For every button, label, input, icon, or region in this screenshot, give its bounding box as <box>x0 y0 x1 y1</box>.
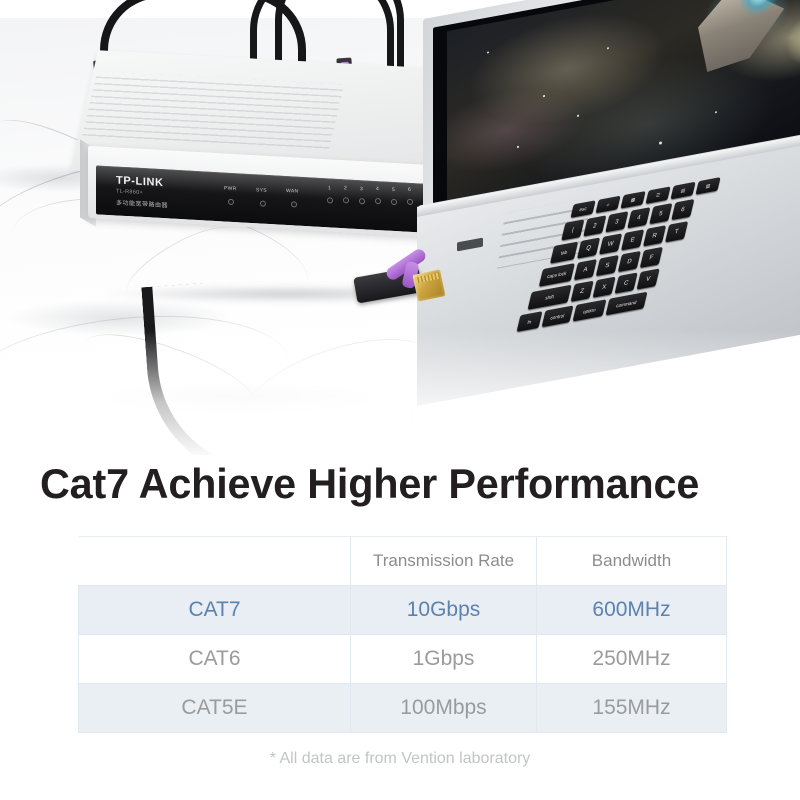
hero-photo: TP-LINK TL-R860+ 多功能宽带路由器 PWR SYS WAN 1 … <box>0 0 800 455</box>
cell-transmission-rate: 1Gbps <box>351 635 537 684</box>
key-2[interactable]: 2 <box>583 215 606 236</box>
key-6[interactable]: 6 <box>671 199 694 220</box>
page-title: Cat7 Achieve Higher Performance <box>40 461 759 507</box>
cell-bandwidth: 155MHz <box>537 684 727 733</box>
column-header-bandwidth: Bandwidth <box>537 537 727 586</box>
led-dot-pwr <box>228 199 234 205</box>
table-header-row: Transmission Rate Bandwidth <box>79 537 727 586</box>
table-row[interactable]: CAT7 10Gbps 600MHz <box>79 586 727 635</box>
router-model-label: TL-R860+ <box>116 188 143 196</box>
key-c[interactable]: C <box>615 272 638 293</box>
key-option[interactable]: option <box>573 299 607 321</box>
key-r[interactable]: R <box>643 225 666 246</box>
cell-cable-name: CAT5E <box>79 684 351 733</box>
led-label-pwr: PWR <box>224 185 237 192</box>
lens-flare <box>785 6 800 72</box>
port-number-2: 2 <box>344 185 347 191</box>
table-row[interactable]: CAT6 1Gbps 250MHz <box>79 635 727 684</box>
port-number-4: 4 <box>376 186 379 192</box>
key-v[interactable]: V <box>637 268 660 289</box>
port-led-1 <box>327 197 333 203</box>
cell-cable-name: CAT7 <box>79 586 351 635</box>
port-led-5 <box>391 199 397 205</box>
key-q[interactable]: Q <box>577 237 600 258</box>
key-d[interactable]: D <box>618 251 641 272</box>
led-label-wan: WAN <box>286 188 298 195</box>
macbook-laptop: esc ☼ ▦ ☰ ▤ ▨ | 2 3 4 5 6 tab Q <box>405 0 800 372</box>
data-source-footnote: * All data are from Vention laboratory <box>0 750 800 768</box>
cell-bandwidth: 250MHz <box>537 635 727 684</box>
key-t[interactable]: T <box>665 221 688 242</box>
key-f[interactable]: F <box>640 247 663 268</box>
table-row[interactable]: CAT5E 100Mbps 155MHz <box>79 684 727 733</box>
port-led-4 <box>375 198 381 204</box>
key-e[interactable]: E <box>621 229 644 250</box>
spec-comparison-table: Transmission Rate Bandwidth CAT7 10Gbps … <box>78 536 727 733</box>
key-x[interactable]: X <box>593 277 616 298</box>
tp-link-router: TP-LINK TL-R860+ 多功能宽带路由器 PWR SYS WAN 1 … <box>60 60 460 255</box>
cell-transmission-rate: 10Gbps <box>351 586 537 635</box>
key-3[interactable]: 3 <box>605 211 628 232</box>
rj45-gold-connector <box>412 269 445 301</box>
column-header-transmission-rate: Transmission Rate <box>351 537 537 586</box>
spaceship-graphic <box>678 0 791 78</box>
led-dot-sys <box>260 200 266 206</box>
key-command[interactable]: command <box>606 292 648 316</box>
key-1[interactable]: | <box>561 219 584 240</box>
led-label-sys: SYS <box>256 187 267 194</box>
column-header-category <box>79 537 351 586</box>
key-5[interactable]: 5 <box>649 203 672 224</box>
key-a[interactable]: A <box>574 259 597 280</box>
key-4[interactable]: 4 <box>627 207 650 228</box>
port-number-5: 5 <box>392 187 395 193</box>
port-number-1: 1 <box>328 185 331 191</box>
cell-transmission-rate: 100Mbps <box>351 684 537 733</box>
key-z[interactable]: Z <box>571 281 594 302</box>
key-s[interactable]: S <box>596 255 619 276</box>
promo-page: TP-LINK TL-R860+ 多功能宽带路由器 PWR SYS WAN 1 … <box>0 0 800 800</box>
key-w[interactable]: W <box>599 233 622 254</box>
photo-fade-overlay <box>0 330 800 455</box>
port-led-3 <box>359 198 365 204</box>
port-number-3: 3 <box>360 186 363 192</box>
router-subtitle-label: 多功能宽带路由器 <box>116 197 168 209</box>
key-tab[interactable]: tab <box>550 241 578 263</box>
port-led-2 <box>343 197 349 203</box>
cell-cable-name: CAT6 <box>79 635 351 684</box>
cell-bandwidth: 600MHz <box>537 586 727 635</box>
led-dot-wan <box>291 201 297 207</box>
router-vent-ribs <box>82 71 344 150</box>
